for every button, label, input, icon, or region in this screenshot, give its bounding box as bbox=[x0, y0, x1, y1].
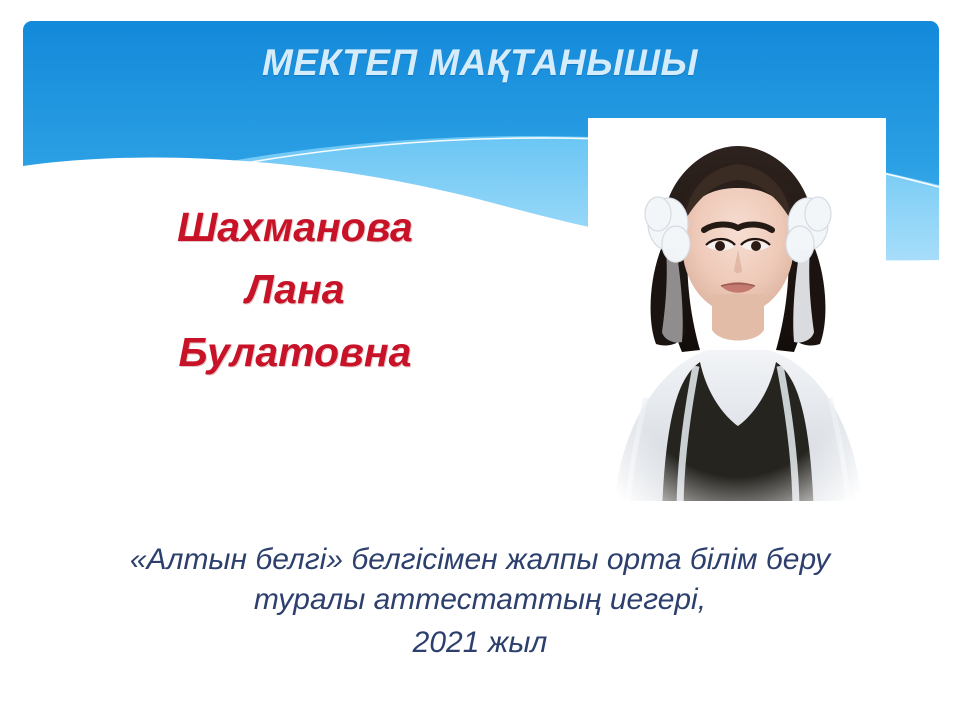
caption-year: 2021 жыл bbox=[20, 623, 940, 663]
award-caption: «Алтын белгі» белгісімен жалпы орта білі… bbox=[20, 540, 940, 663]
page-title: МЕКТЕП МАҚТАНЫШЫ bbox=[0, 42, 960, 84]
student-portrait-image bbox=[588, 118, 886, 513]
student-name-block: Шахманова Лана Булатовна bbox=[30, 196, 560, 383]
student-first-name: Лана bbox=[30, 258, 560, 320]
student-patronymic: Булатовна bbox=[30, 321, 560, 383]
caption-line-1: «Алтын белгі» белгісімен жалпы орта білі… bbox=[20, 540, 940, 580]
student-photo bbox=[588, 118, 886, 513]
student-surname: Шахманова bbox=[30, 196, 560, 258]
slide-canvas: МЕКТЕП МАҚТАНЫШЫ Шахманова Лана Булатовн… bbox=[0, 0, 960, 720]
caption-line-2: туралы аттестаттың иегері, bbox=[20, 580, 940, 620]
